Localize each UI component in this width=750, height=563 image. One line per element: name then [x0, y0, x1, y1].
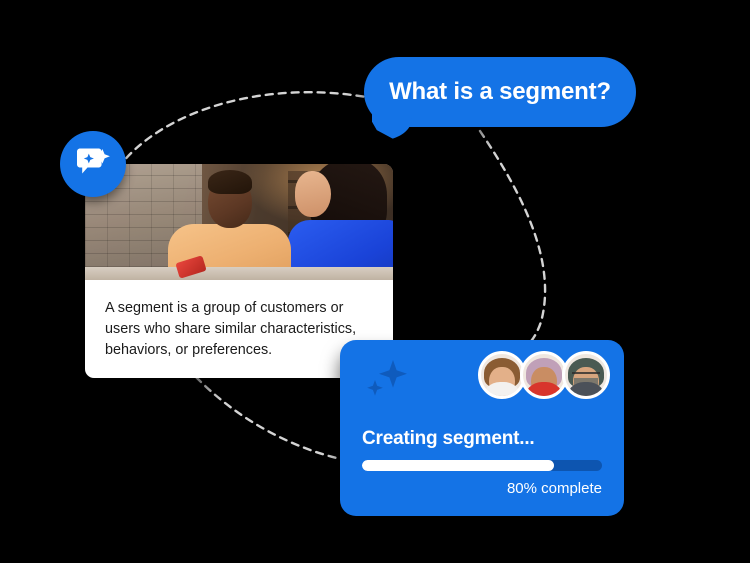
progress-bar-track — [362, 460, 602, 471]
progress-bar-fill — [362, 460, 554, 471]
creating-segment-card: Creating segment... 80% complete — [340, 340, 624, 516]
progress-caption: 80% complete — [507, 480, 602, 497]
speech-bubble-tail — [372, 114, 412, 140]
chat-sparkle-icon — [74, 147, 112, 181]
speech-bubble: What is a segment? — [364, 57, 636, 127]
speech-bubble-text: What is a segment? — [389, 78, 611, 106]
connector-badge-to-bubble — [118, 92, 372, 168]
avatar-person-2 — [520, 351, 568, 399]
photo-table — [85, 267, 393, 280]
answer-card-photo — [85, 164, 393, 280]
illustration-canvas: What is a segment? A segment is a group … — [0, 0, 750, 563]
chat-sparkle-badge[interactable] — [60, 131, 126, 197]
avatar-person-3 — [562, 351, 610, 399]
connector-bubble-to-progress — [480, 131, 545, 364]
avatar-person-1 — [478, 351, 526, 399]
progress-title: Creating segment... — [362, 428, 535, 450]
avatar-group — [478, 351, 610, 399]
ai-sparkle-icon — [362, 358, 418, 402]
sparkle-decoration — [362, 358, 418, 402]
photo-person-left-hair — [208, 170, 252, 194]
connector-card-to-progress — [196, 377, 345, 460]
